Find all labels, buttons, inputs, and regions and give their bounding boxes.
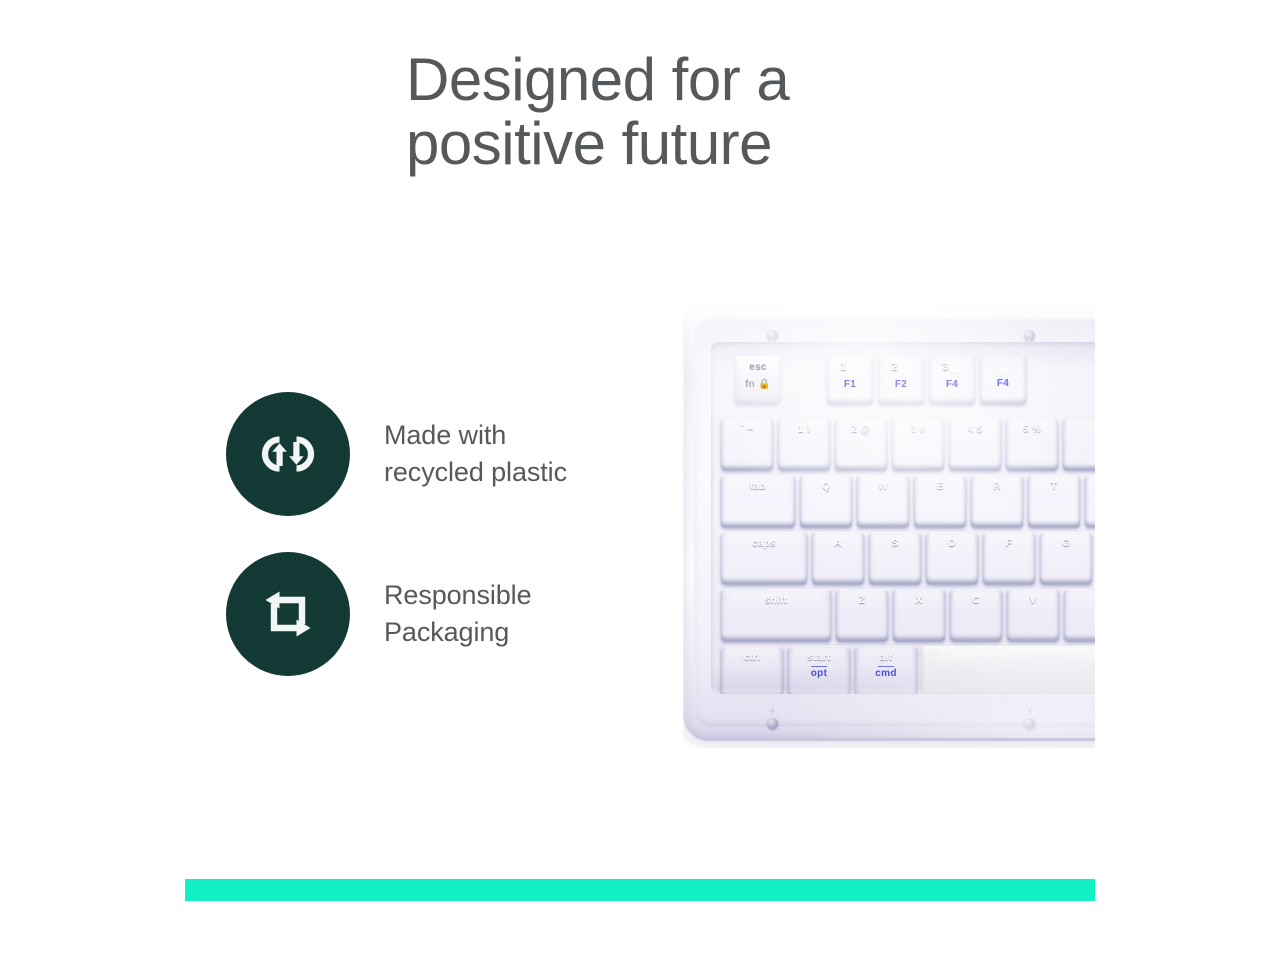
keyboard-row-numbers: ` ~ 1 ! 2 @ 3 # 4 $ 5 % xyxy=(721,418,1095,470)
key-f2[interactable]: 2 F2 xyxy=(878,356,924,404)
keyboard-product-image: esc fn 🔒 1 F1 2 xyxy=(683,306,1095,748)
lock-icon: 🔒 xyxy=(758,379,771,390)
feature-item-responsible-packaging: Responsible Packaging xyxy=(226,552,656,676)
key-r[interactable]: R xyxy=(971,475,1023,527)
key-e[interactable]: E xyxy=(914,475,966,527)
key-tab[interactable]: tab xyxy=(721,475,795,527)
display-3-icon: 3 xyxy=(942,362,961,373)
key-y[interactable] xyxy=(1085,475,1095,527)
key-6[interactable] xyxy=(1063,418,1095,470)
page-title-line-2: positive future xyxy=(406,112,1046,176)
keyboard-row-shift: shift Z X C V xyxy=(721,589,1095,641)
key-divider xyxy=(811,666,827,667)
promo-slide: Designed for a positive future xyxy=(0,0,1280,960)
bottom-accent-bar xyxy=(185,879,1095,901)
key-start-opt[interactable]: start opt xyxy=(788,646,850,694)
key-f3-label: F4 xyxy=(946,379,958,390)
recycled-plastic-icon xyxy=(255,421,321,487)
keyboard-row-tab: tab Q W E R T xyxy=(721,475,1095,527)
key-w[interactable]: W xyxy=(857,475,909,527)
key-3[interactable]: 3 # xyxy=(892,418,944,470)
responsible-packaging-icon xyxy=(257,583,319,645)
recycled-plastic-badge xyxy=(226,392,350,516)
key-f[interactable]: F xyxy=(983,532,1035,584)
key-5[interactable]: 5 % xyxy=(1006,418,1058,470)
key-esc-label: esc xyxy=(749,362,767,373)
key-z[interactable]: Z xyxy=(836,589,888,641)
key-divider xyxy=(878,666,894,667)
key-esc-sublabel: fn 🔒 xyxy=(745,379,771,390)
key-a[interactable]: A xyxy=(812,532,864,584)
key-alt-cmd[interactable]: alt cmd xyxy=(855,646,917,694)
key-f4[interactable]: F4 xyxy=(980,356,1026,404)
page-title-line-1: Designed for a xyxy=(406,48,1046,112)
key-f3[interactable]: 3 F4 xyxy=(929,356,975,404)
key-d[interactable]: D xyxy=(926,532,978,584)
key-s[interactable]: S xyxy=(869,532,921,584)
key-v[interactable]: V xyxy=(1007,589,1059,641)
feature-label-recycled-plastic: Made with recycled plastic xyxy=(384,417,567,491)
key-caps[interactable]: caps xyxy=(721,532,807,584)
key-f4-label: F4 xyxy=(997,378,1009,389)
brightness-icon xyxy=(995,362,1011,372)
key-4[interactable]: 4 $ xyxy=(949,418,1001,470)
key-f1[interactable]: 1 F1 xyxy=(827,356,873,404)
key-shift[interactable]: shift xyxy=(721,589,831,641)
key-1[interactable]: 1 ! xyxy=(778,418,830,470)
key-t[interactable]: T xyxy=(1028,475,1080,527)
keyboard-row-modifiers: ctrl start opt alt cmd xyxy=(721,646,1095,694)
key-b[interactable] xyxy=(1064,589,1095,641)
key-esc[interactable]: esc fn 🔒 xyxy=(735,356,781,404)
feature-label-responsible-packaging: Responsible Packaging xyxy=(384,577,532,651)
keyboard-row-caps: caps A S D F G xyxy=(721,532,1092,584)
keyboard-row-function: esc fn 🔒 1 F1 2 xyxy=(735,356,1026,404)
keyboard-screw-top-right xyxy=(1024,330,1035,341)
keyboard-screw-top-left xyxy=(767,330,778,341)
keyboard-screw-bottom-right xyxy=(1024,718,1035,729)
key-q[interactable]: Q xyxy=(800,475,852,527)
keyboard-screw-bottom-left xyxy=(767,718,778,729)
display-1-icon: 1 xyxy=(840,362,859,373)
key-x[interactable]: X xyxy=(893,589,945,641)
feature-item-recycled-plastic: Made with recycled plastic xyxy=(226,392,656,516)
key-c[interactable]: C xyxy=(950,589,1002,641)
key-space[interactable] xyxy=(922,646,1095,694)
key-2[interactable]: 2 @ xyxy=(835,418,887,470)
key-g[interactable]: G xyxy=(1040,532,1092,584)
key-ctrl[interactable]: ctrl xyxy=(721,646,783,694)
key-grave[interactable]: ` ~ xyxy=(721,418,773,470)
display-2-icon: 2 xyxy=(891,362,910,373)
keyboard-plate: esc fn 🔒 1 F1 2 xyxy=(711,342,1095,694)
responsible-packaging-badge xyxy=(226,552,350,676)
key-f2-label: F2 xyxy=(895,379,907,390)
page-title: Designed for a positive future xyxy=(406,48,1046,176)
feature-list: Made with recycled plastic xyxy=(226,392,656,712)
key-f1-label: F1 xyxy=(844,379,856,390)
